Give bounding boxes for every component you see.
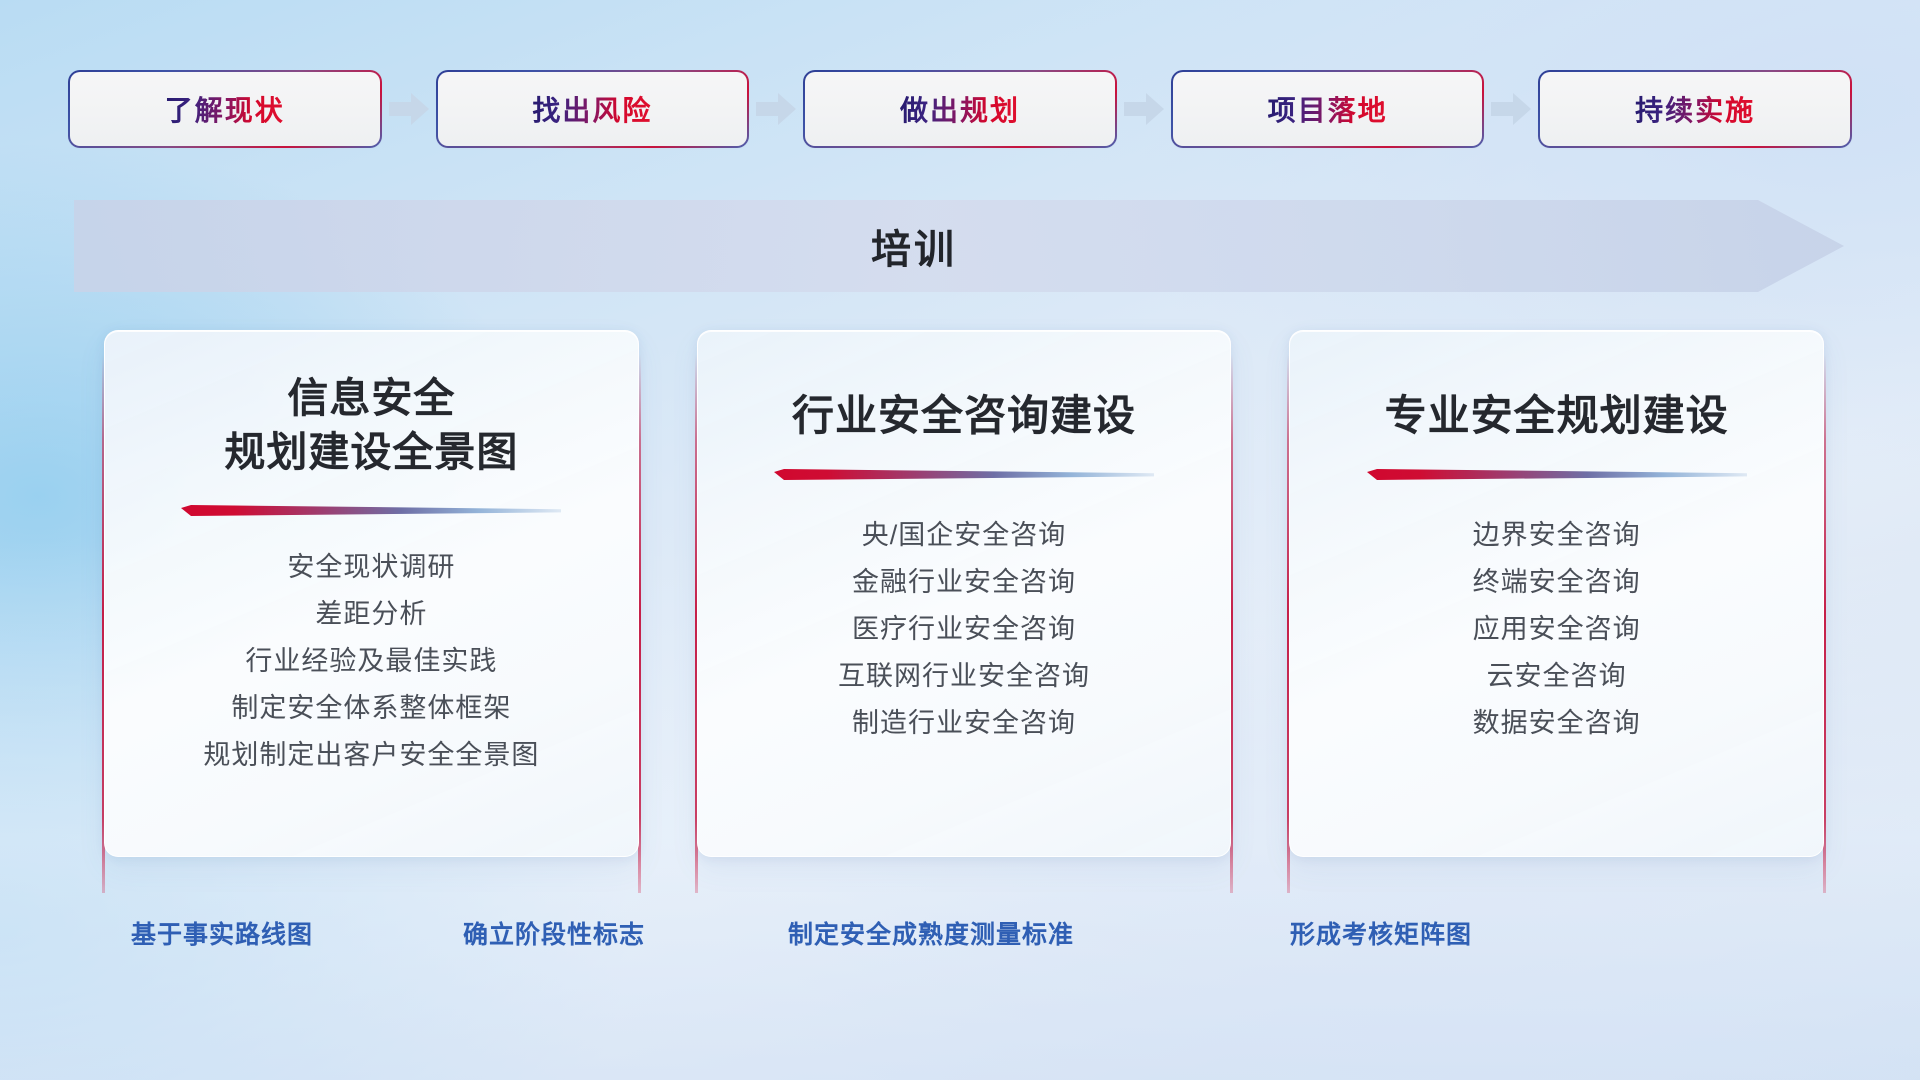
training-banner: 培训 (74, 200, 1844, 292)
list-item: 央/国企安全咨询 (728, 512, 1201, 559)
step-pill-1[interactable]: 找出风险 (438, 72, 748, 146)
list-item: 制造行业安全咨询 (728, 700, 1201, 747)
bottom-label-3: 形成考核矩阵图 (1290, 915, 1472, 951)
step-arrow-icon-2 (1115, 72, 1173, 146)
step-pill-0[interactable]: 了解现状 (70, 72, 380, 146)
gradient-underline-icon (774, 469, 1154, 482)
list-item: 医疗行业安全咨询 (728, 606, 1201, 653)
list-item: 云安全咨询 (1320, 653, 1793, 700)
gradient-underline-icon (181, 505, 561, 518)
bottom-label-0: 基于事实路线图 (131, 915, 313, 951)
list-item: 规划制定出客户安全全景图 (135, 732, 608, 779)
card-title: 信息安全 规划建设全景图 (224, 371, 518, 479)
step-pill-2[interactable]: 做出规划 (805, 72, 1115, 146)
card-wrapper-1: 行业安全咨询建设 央/国企安 (697, 330, 1232, 875)
card-wrapper-0: 信息安全 规划建设全景图 安 (104, 330, 639, 875)
step-pill-4[interactable]: 持续实施 (1540, 72, 1850, 146)
step-pill-label: 项目落地 (1268, 89, 1388, 129)
list-item: 应用安全咨询 (1320, 606, 1793, 653)
step-pill-label: 做出规划 (900, 89, 1020, 129)
card-0[interactable]: 信息安全 规划建设全景图 安 (104, 330, 639, 857)
infographic-stage: 了解现状 找出风险 做出规划 项目落地 (0, 0, 1920, 1080)
card-title: 专业安全规划建设 (1385, 389, 1729, 443)
list-item: 金融行业安全咨询 (728, 559, 1201, 606)
step-pill-3[interactable]: 项目落地 (1173, 72, 1483, 146)
card-item-list: 安全现状调研 差距分析 行业经验及最佳实践 制定安全体系整体框架 规划制定出客户… (135, 544, 608, 779)
training-banner-title: 培训 (74, 200, 1754, 292)
card-2[interactable]: 专业安全规划建设 边界安全咨 (1289, 330, 1824, 857)
card-wrapper-2: 专业安全规划建设 边界安全咨 (1289, 330, 1824, 875)
step-pill-label: 找出风险 (532, 89, 652, 129)
list-item: 数据安全咨询 (1320, 700, 1793, 747)
card-row: 信息安全 规划建设全景图 安 (104, 330, 1824, 875)
card-item-list: 边界安全咨询 终端安全咨询 应用安全咨询 云安全咨询 数据安全咨询 (1320, 512, 1793, 747)
step-pill-label: 持续实施 (1635, 89, 1755, 129)
step-arrow-icon-0 (380, 72, 438, 146)
step-arrow-icon-1 (747, 72, 805, 146)
card-title: 行业安全咨询建设 (792, 389, 1136, 443)
bottom-label-row: 基于事实路线图 确立阶段性标志 制定安全成熟度测量标准 形成考核矩阵图 (0, 915, 1920, 965)
step-arrow-icon-3 (1482, 72, 1540, 146)
bottom-label-1: 确立阶段性标志 (463, 915, 645, 951)
process-step-row: 了解现状 找出风险 做出规划 项目落地 (70, 72, 1850, 146)
list-item: 互联网行业安全咨询 (728, 653, 1201, 700)
list-item: 安全现状调研 (135, 544, 608, 591)
step-pill-label: 了解现状 (165, 89, 285, 129)
card-1[interactable]: 行业安全咨询建设 央/国企安 (697, 330, 1232, 857)
list-item: 差距分析 (135, 591, 608, 638)
gradient-underline-icon (1367, 469, 1747, 482)
card-item-list: 央/国企安全咨询 金融行业安全咨询 医疗行业安全咨询 互联网行业安全咨询 制造行… (728, 512, 1201, 747)
list-item: 终端安全咨询 (1320, 559, 1793, 606)
list-item: 边界安全咨询 (1320, 512, 1793, 559)
bottom-label-2: 制定安全成熟度测量标准 (788, 915, 1074, 951)
list-item: 制定安全体系整体框架 (135, 685, 608, 732)
list-item: 行业经验及最佳实践 (135, 638, 608, 685)
